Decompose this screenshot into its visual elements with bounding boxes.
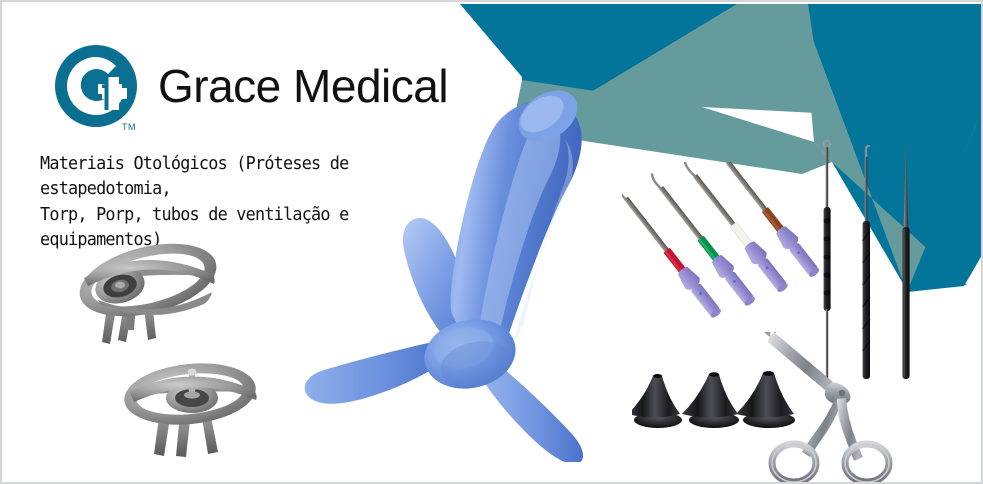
trademark-symbol: TM	[122, 122, 136, 132]
colored-otology-picks-image	[622, 162, 822, 342]
grace-medical-g-plus-logo-icon: TM	[54, 44, 138, 128]
blue-ear-speculum-image	[292, 72, 632, 462]
ear-speculum-cone-2	[682, 372, 739, 428]
ear-speculum-cone-1	[632, 374, 682, 428]
alligator-forceps-image	[762, 332, 937, 482]
grace-medical-banner: TM Grace Medical Materiais Otológicos (P…	[0, 0, 983, 484]
stapedotomy-piston-prosthesis-lower-image	[118, 350, 268, 462]
stapedotomy-piston-prosthesis-upper-image	[68, 238, 228, 358]
